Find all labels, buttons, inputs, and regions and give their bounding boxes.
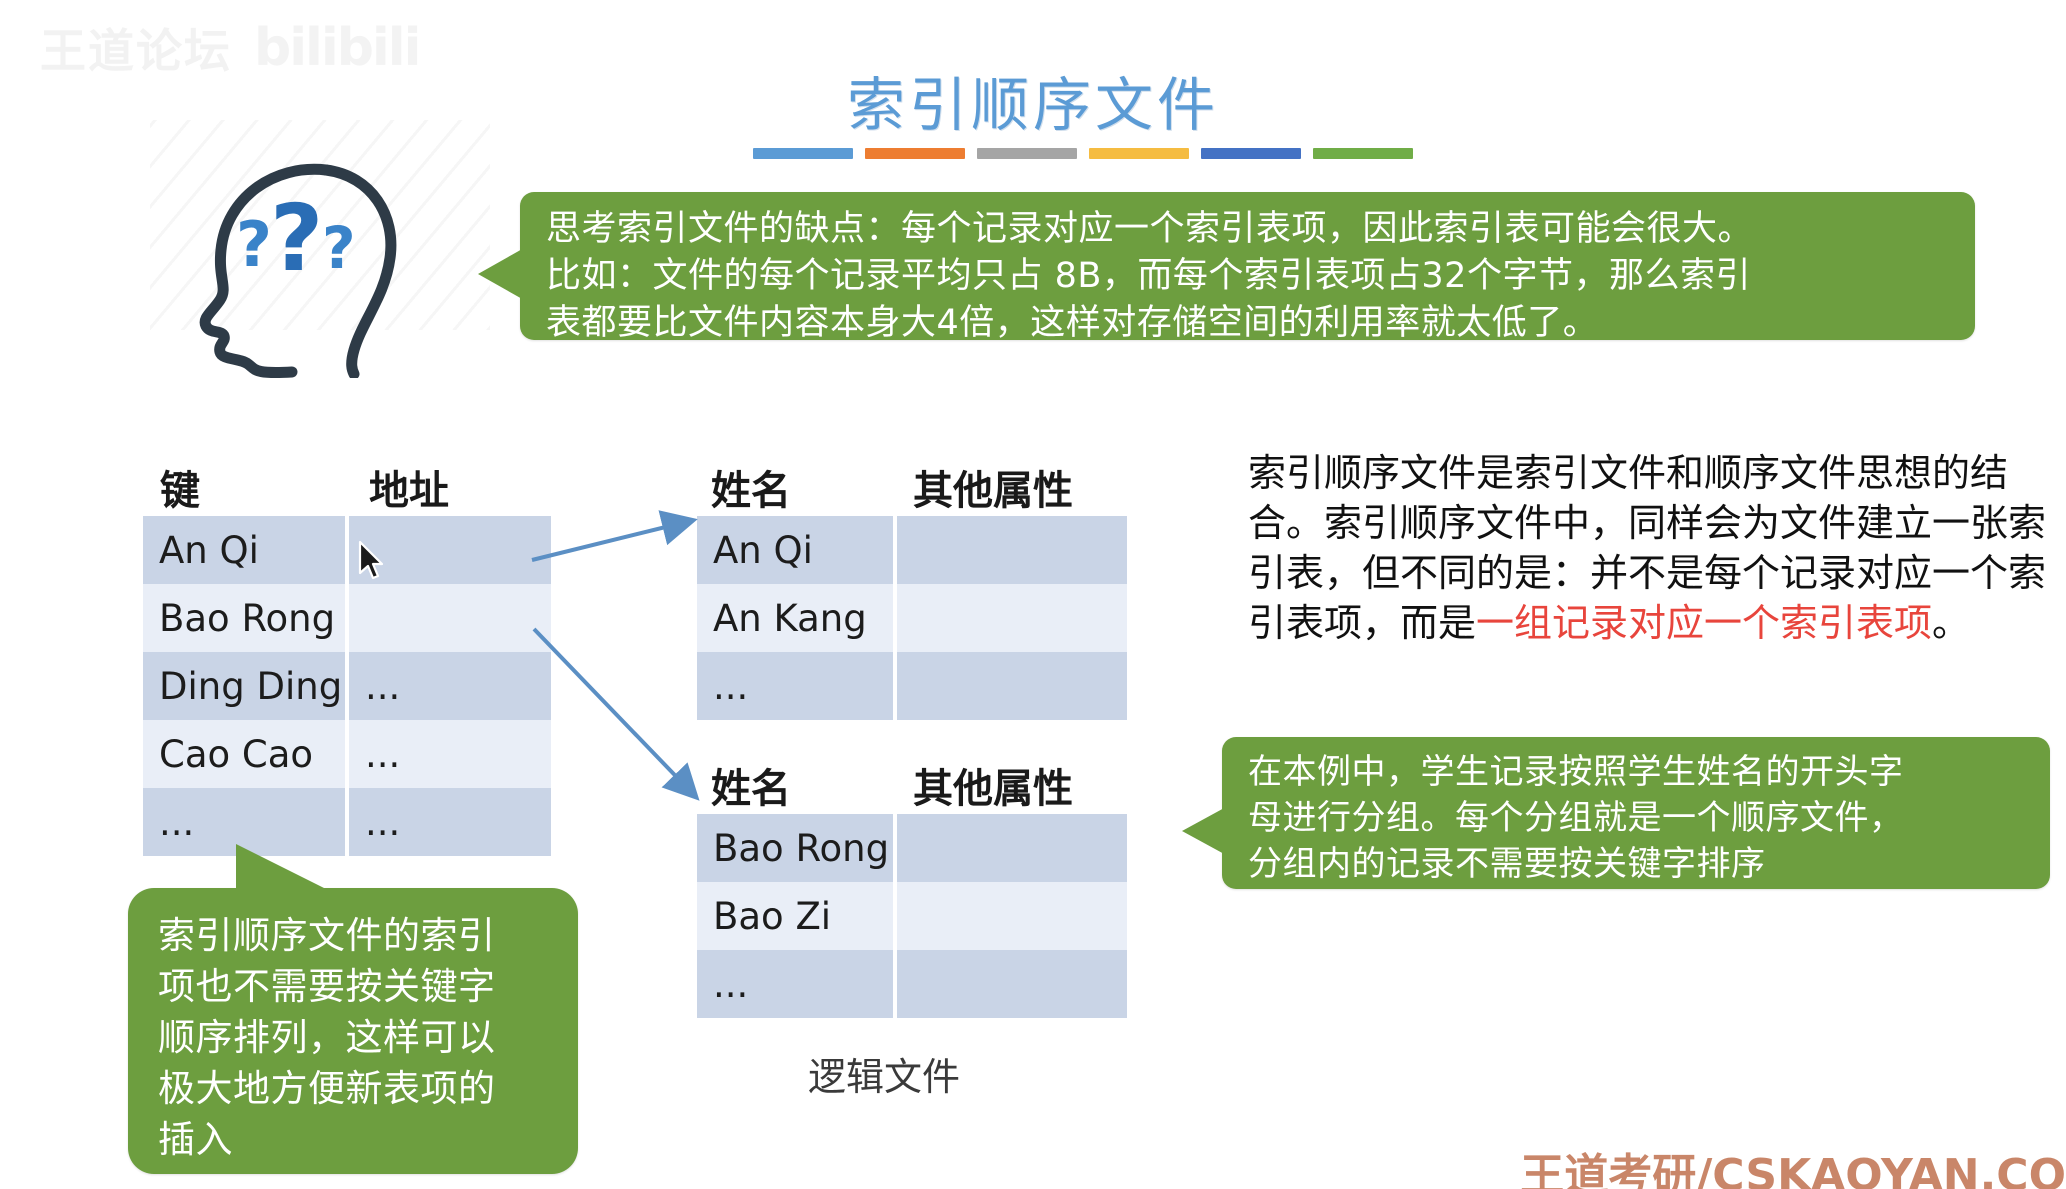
callout-top-line-1: 思考索引文件的缺点：每个记录对应一个索引表项，因此索引表可能会很大。: [546, 206, 1949, 253]
question-mark-right: ?: [322, 214, 356, 282]
callout-bl-line-5: 插入: [158, 1114, 552, 1165]
index-table-header-address: 地址: [349, 458, 555, 516]
table-row[interactable]: Bao Rong: [697, 814, 1127, 882]
table-row[interactable]: Bao Rong: [143, 584, 555, 652]
callout-tail-left: [1182, 807, 1226, 855]
mouse-cursor: [357, 540, 387, 584]
explanation-paragraph: 索引顺序文件是索引文件和顺序文件思想的结合。索引顺序文件中，同样会为文件建立一张…: [1248, 448, 2058, 648]
index-table-header-key: 键: [143, 458, 349, 516]
index-key-cell[interactable]: Bao Rong: [143, 584, 345, 652]
logical-table-2-header-name: 姓名: [697, 756, 897, 814]
table-row[interactable]: Bao Zi: [697, 882, 1127, 950]
question-mark-large: ?: [270, 185, 323, 292]
callout-right-line-3: 分组内的记录不需要按关键字排序: [1248, 841, 2026, 887]
table-row[interactable]: Cao Cao ...: [143, 720, 555, 788]
page-title: 索引顺序文件: [0, 58, 2066, 142]
callout-index-drawback: 思考索引文件的缺点：每个记录对应一个索引表项，因此索引表可能会很大。 比如：文件…: [520, 192, 1975, 340]
arrow-to-logical-table-2: [534, 629, 694, 795]
callout-tail-top: [236, 844, 328, 890]
record-attrs-cell[interactable]: [897, 652, 1127, 720]
callout-bl-line-2: 项也不需要按关键字: [158, 961, 552, 1012]
callout-bl-line-1: 索引顺序文件的索引: [158, 910, 552, 961]
logical-table-1-header-name: 姓名: [697, 458, 897, 516]
record-name-cell[interactable]: An Kang: [697, 584, 893, 652]
logical-table-2-header-attrs: 其他属性: [897, 756, 1127, 814]
callout-top-line-2: 比如：文件的每个记录平均只占 8B，而每个索引表项占32个字节，那么索引: [546, 253, 1949, 300]
index-table: 键 地址 An Qi Bao Rong Ding Ding ... Cao Ca…: [143, 460, 555, 856]
title-bar-2: [865, 148, 965, 159]
callout-top-line-3: 表都要比文件内容本身大4倍，这样对存储空间的利用率就太低了。: [546, 300, 1949, 347]
table-row[interactable]: An Qi: [697, 516, 1127, 584]
title-bar-4: [1089, 148, 1189, 159]
callout-right-line-1: 在本例中，学生记录按照学生姓名的开头字: [1248, 749, 2026, 795]
logical-file-table-bao: 姓名 其他属性 Bao Rong Bao Zi ...: [697, 758, 1127, 1018]
title-bar-6: [1313, 148, 1413, 159]
table-row[interactable]: An Qi: [143, 516, 555, 584]
callout-bl-line-4: 极大地方便新表项的: [158, 1063, 552, 1114]
record-name-cell[interactable]: Bao Rong: [697, 814, 893, 882]
logical-file-caption: 逻辑文件: [808, 1046, 960, 1101]
index-address-cell[interactable]: ...: [349, 652, 551, 720]
index-key-cell[interactable]: Cao Cao: [143, 720, 345, 788]
callout-index-order-note: 索引顺序文件的索引 项也不需要按关键字 顺序排列，这样可以 极大地方便新表项的 …: [128, 888, 578, 1174]
record-attrs-cell[interactable]: [897, 584, 1127, 652]
record-attrs-cell[interactable]: [897, 950, 1127, 1018]
index-address-cell[interactable]: ...: [349, 720, 551, 788]
arrow-to-logical-table-1: [532, 521, 690, 560]
logical-file-table-an: 姓名 其他属性 An Qi An Kang ...: [697, 460, 1127, 720]
explanation-part-2: 。: [1932, 601, 1970, 645]
table-row[interactable]: Ding Ding ...: [143, 652, 555, 720]
logical-table-1-header-attrs: 其他属性: [897, 458, 1127, 516]
record-name-cell[interactable]: An Qi: [697, 516, 893, 584]
callout-tail-left: [478, 248, 524, 300]
slide-canvas: 王道论坛 bilibili 王道考研/CSKAOYAN.CO 索引顺序文件 ? …: [0, 0, 2066, 1189]
callout-right-line-2: 母进行分组。每个分组就是一个顺序文件，: [1248, 795, 2026, 841]
logical-table-2-header-row: 姓名 其他属性: [697, 758, 1127, 814]
table-row[interactable]: ...: [697, 950, 1127, 1018]
table-row[interactable]: ...: [697, 652, 1127, 720]
record-name-cell[interactable]: ...: [697, 652, 893, 720]
record-attrs-cell[interactable]: [897, 516, 1127, 584]
index-address-cell[interactable]: ...: [349, 788, 551, 856]
title-bar-5: [1201, 148, 1301, 159]
explanation-highlight: 一组记录对应一个索引表项: [1476, 601, 1932, 645]
record-name-cell[interactable]: ...: [697, 950, 893, 1018]
index-table-header-row: 键 地址: [143, 460, 555, 516]
index-address-cell[interactable]: [349, 584, 551, 652]
callout-bl-line-3: 顺序排列，这样可以: [158, 1012, 552, 1063]
title-bar-1: [753, 148, 853, 159]
logical-table-1-header-row: 姓名 其他属性: [697, 460, 1127, 516]
thinking-head-icon: ? ? ?: [196, 158, 406, 378]
index-key-cell[interactable]: An Qi: [143, 516, 345, 584]
question-mark-left: ?: [236, 208, 272, 281]
table-row[interactable]: An Kang: [697, 584, 1127, 652]
record-name-cell[interactable]: Bao Zi: [697, 882, 893, 950]
record-attrs-cell[interactable]: [897, 882, 1127, 950]
title-bar-3: [977, 148, 1077, 159]
callout-grouping-note: 在本例中，学生记录按照学生姓名的开头字 母进行分组。每个分组就是一个顺序文件， …: [1222, 737, 2050, 889]
title-underline-bars: [753, 148, 1413, 160]
index-key-cell[interactable]: Ding Ding: [143, 652, 345, 720]
table-row[interactable]: ... ...: [143, 788, 555, 856]
record-attrs-cell[interactable]: [897, 814, 1127, 882]
watermark-bottom-right: 王道考研/CSKAOYAN.CO: [1520, 1139, 2066, 1189]
